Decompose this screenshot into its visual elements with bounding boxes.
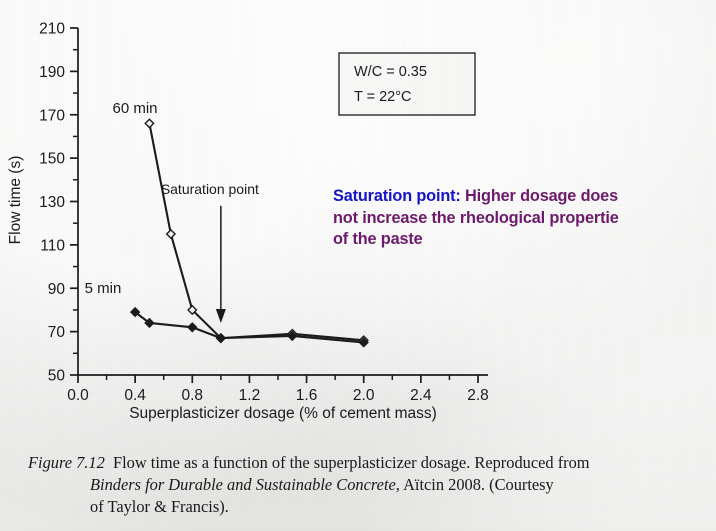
x-tick-label: 2.4 [410, 387, 432, 404]
annotation-blue-text: Saturation point: [333, 187, 461, 205]
series-line-0 [149, 123, 363, 340]
textbox-border [339, 53, 475, 115]
x-tick-label: 2.8 [467, 387, 489, 404]
annotation-line-1: Saturation point: Higher dosage does [333, 186, 716, 208]
data-point-marker [145, 119, 153, 127]
caption-source-title: Binders for Durable and Sustainable Conc… [90, 475, 396, 494]
annotation-line-2: not increase the rheological propertie [333, 208, 716, 230]
x-tick-label: 2.0 [353, 387, 375, 404]
series-label-5min: 5 min [85, 280, 122, 297]
annotation-purple-text-1: Higher dosage does [461, 187, 618, 205]
y-tick-label: 210 [39, 21, 65, 38]
x-axis-title: Superplasticizer dosage (% of cement mas… [129, 405, 437, 422]
y-tick-label: 90 [48, 281, 66, 298]
x-tick-label: 0.8 [182, 387, 204, 404]
y-tick-label: 50 [48, 368, 66, 385]
x-tick-label: 1.2 [239, 387, 261, 404]
conditions-textbox: W/C = 0.35 T = 22°C [339, 53, 475, 115]
data-point-marker [167, 230, 175, 238]
saturation-point-label: Saturation point [161, 181, 259, 197]
caption-figure-label: Figure 7.12 [28, 453, 105, 472]
y-tick-label: 110 [40, 237, 65, 254]
x-tick-label: 1.6 [296, 387, 318, 404]
x-tick-label: 0.4 [124, 387, 146, 404]
series-label-60min: 60 min [112, 100, 157, 117]
y-tick-label: 130 [39, 194, 65, 211]
y-tick-label: 70 [48, 324, 66, 341]
caption-text-2: , Aïtcin 2008. (Courtesy [396, 475, 554, 494]
textbox-line-temp: T = 22°C [354, 89, 412, 105]
caption-line-3: of Taylor & Francis). [28, 496, 700, 518]
caption-text-1: Flow time as a function of the superplas… [113, 453, 590, 472]
caption-line-2: Binders for Durable and Sustainable Conc… [28, 474, 700, 496]
y-tick-label: 190 [39, 64, 65, 81]
saturation-arrow-head [216, 309, 226, 323]
textbox-line-wc: W/C = 0.35 [354, 64, 427, 80]
overlay-annotation: Saturation point: Higher dosage does not… [333, 186, 716, 251]
caption-line-1: Figure 7.12 Flow time as a function of t… [28, 452, 700, 474]
y-tick-label: 170 [39, 107, 65, 124]
y-tick-label: 150 [39, 151, 65, 168]
x-tick-label: 0.0 [67, 387, 89, 404]
annotation-line-3: of the paste [333, 229, 716, 251]
figure-caption: Figure 7.12 Flow time as a function of t… [28, 452, 700, 517]
data-point-marker [188, 323, 196, 331]
y-axis-title: Flow time (s) [7, 156, 24, 245]
figure-container: 5070901101301501701902100.00.40.81.21.62… [0, 0, 716, 531]
